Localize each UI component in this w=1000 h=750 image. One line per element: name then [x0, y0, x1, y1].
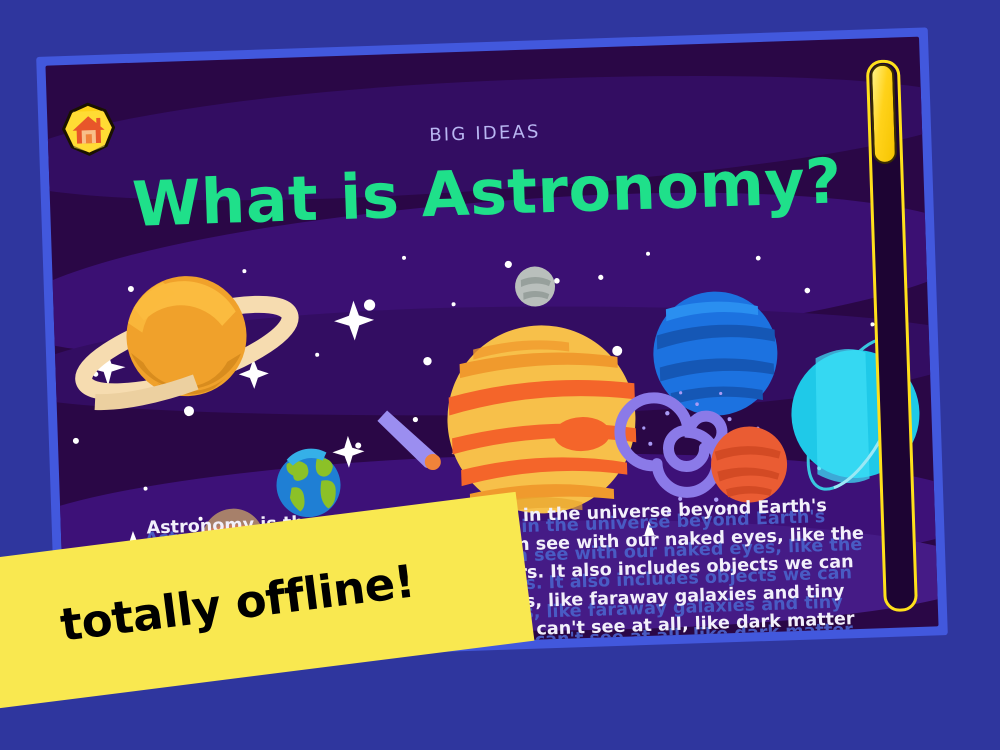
- scrollbar-thumb[interactable]: [870, 64, 897, 165]
- home-icon: [61, 101, 117, 157]
- offline-banner-label: totally offline!: [57, 554, 417, 651]
- app-root: BIG IDEAS What is Astronomy?: [0, 0, 1000, 750]
- planet-jupiter: [444, 322, 638, 516]
- planet-saturn: [72, 272, 301, 414]
- page-title: What is Astronomy?: [49, 142, 925, 244]
- home-button[interactable]: [61, 101, 117, 157]
- comet: [377, 409, 441, 472]
- planet-mercury: [514, 266, 555, 307]
